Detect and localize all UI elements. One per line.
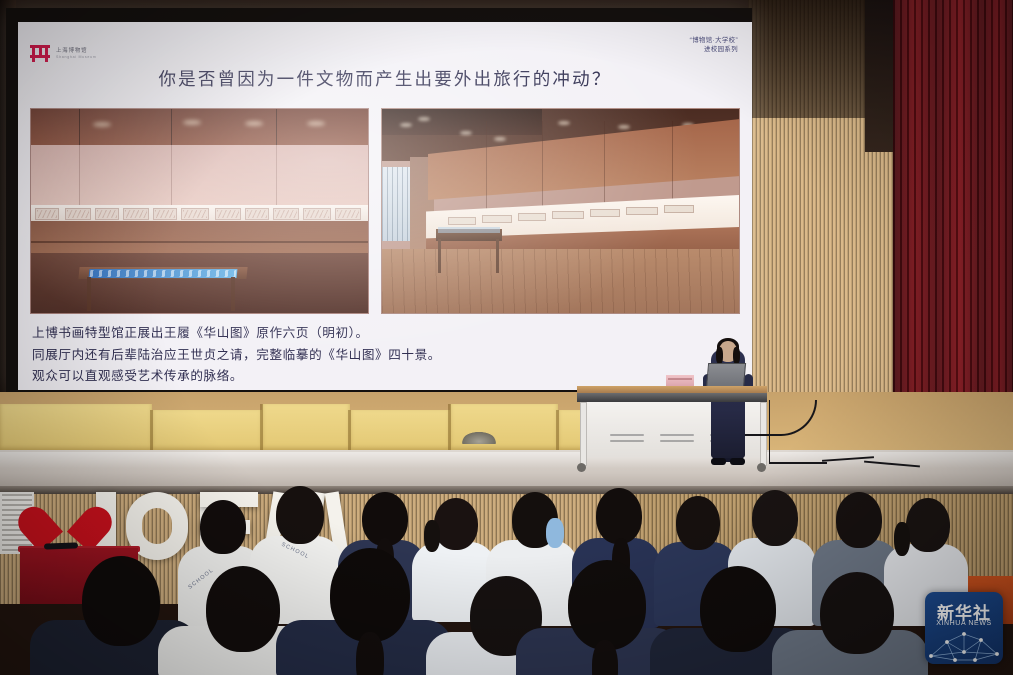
network-graphic-icon (925, 630, 1003, 664)
table-caster-right (757, 463, 766, 472)
stage-riser (152, 410, 262, 450)
table-caster-left (577, 463, 586, 472)
series-line-1: “博物馆·大学校” (690, 36, 738, 45)
projection-screen-frame: 上海博物馆 Shanghai Museum “博物馆·大学校” 进校园系列 你是… (6, 8, 752, 393)
presenter-hair-side-right (733, 347, 740, 364)
presenter-shoe-left (711, 458, 726, 465)
presenter-hair-side-left (716, 347, 723, 364)
gallery-ceiling-band (31, 109, 368, 145)
xinhua-news-watermark: 新华社 XINHUA NEWS (925, 592, 1003, 664)
series-line-2: 进校园系列 (690, 45, 738, 54)
stage-riser (350, 410, 450, 450)
slide-photo-row (30, 108, 740, 314)
slide-body-line-2: 同展厅内还有后辈陆治应王世贞之请，完整临摹的《华山图》四十景。 (32, 344, 732, 366)
gallery-floor (31, 253, 368, 313)
presenter-table-rail (577, 393, 767, 402)
gallery-window (382, 167, 412, 241)
power-cable-drop (769, 400, 770, 463)
slide-body-line-1: 上博书画特型馆正展出王履《华山图》原作六页（明初）。 (32, 322, 732, 344)
logo-name-cn: 上海博物馆 (56, 48, 96, 54)
slide-body-line-3: 观众可以直观感受艺术传承的脉络。 (32, 365, 732, 387)
gallery-wood-floor (382, 249, 739, 313)
logo-name-en: Shanghai Museum (56, 55, 96, 59)
floor-cable-1 (769, 462, 827, 464)
slide-title: 你是否曾因为一件文物而产生出要外出旅行的冲动？ (18, 66, 752, 91)
gallery-lower-wall (31, 221, 368, 253)
stage-floor-reflection (0, 452, 1013, 468)
photograph-scene: 上海博物馆 Shanghai Museum “博物馆·大学校” 进校园系列 你是… (0, 0, 1013, 675)
gallery-upper-wall (31, 145, 368, 207)
gallery-long-perspective-photo (381, 108, 740, 314)
stage-curtain (893, 0, 1013, 400)
presenter-shoe-right (730, 458, 745, 465)
stage-riser (262, 404, 350, 450)
museum-ding-icon (30, 44, 50, 63)
watermark-text-en: XINHUA NEWS (925, 620, 1003, 627)
table-leg-left (580, 402, 587, 466)
touch-table-screen (89, 269, 238, 278)
slide-series-label: “博物馆·大学校” 进校园系列 (690, 36, 738, 55)
stage-decor-emblem (462, 432, 496, 444)
stage-riser (0, 404, 152, 450)
slide-body-text: 上博书画特型馆正展出王履《华山图》原作六页（明初）。 同展厅内还有后辈陆治应王世… (32, 322, 732, 387)
presenter-table-top (577, 386, 767, 393)
microphone-icon (44, 542, 78, 549)
gallery-display-wall-photo (30, 108, 369, 314)
shanghai-museum-logo: 上海博物馆 Shanghai Museum (30, 44, 96, 63)
presentation-slide: 上海博物馆 Shanghai Museum “博物馆·大学校” 进校园系列 你是… (18, 22, 752, 390)
